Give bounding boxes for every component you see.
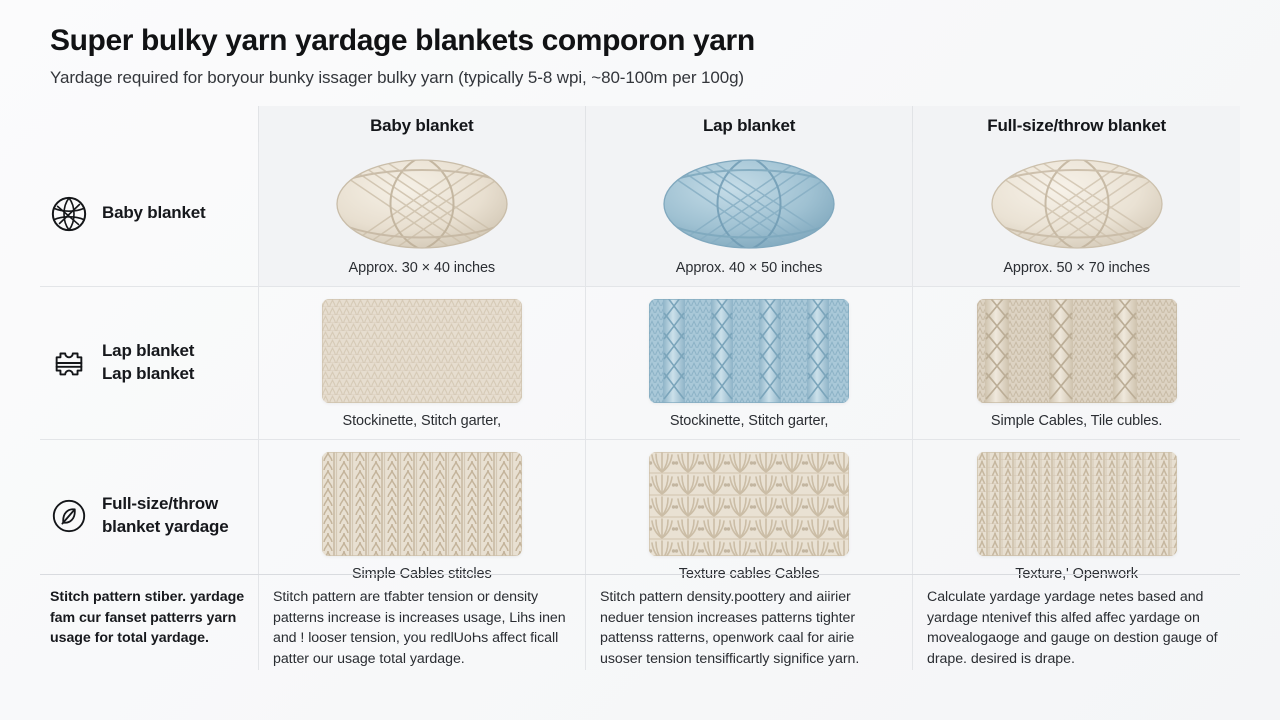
cell-caption: Approx. 30 × 40 inches [269,260,575,276]
yardage-table: Baby blanket Lap blanket Full-size/throw… [40,106,1240,592]
row-label-text: Full-size/throw blanket yardage [102,493,244,538]
yarn-ball-icon [50,195,88,233]
table-row: Baby blanket [40,142,1240,287]
footer-note-summary: Stitch pattern stiber. yardage fam cur f… [40,575,258,670]
infographic-page: Super bulky yarn yardage blankets compor… [0,0,1280,720]
cell-caption: Stockinette, Stitch garter, [269,413,575,429]
footer-note-baby: Stitch pattern are tfabter tension or de… [258,575,585,670]
swatch-openwork-cream-image [649,452,849,556]
cell-lap-baby: Stockinette, Stitch garter, [258,286,585,439]
row-label-text: Baby blanket [102,202,205,224]
cell-caption: Approx. 50 × 70 inches [923,260,1230,276]
cell-baby-lap: Approx. 40 × 50 inches [585,142,912,287]
header: Super bulky yarn yardage blankets compor… [40,24,1240,88]
cell-caption: Simple Cables, Tile cubles. [923,413,1230,429]
swatch-cable-blue-image [649,299,849,403]
header-corner-cell [40,106,258,142]
row-label-text: Lap blanket Lap blanket [102,340,194,385]
cell-full-lap: Texture cables Cables [585,439,912,592]
column-header-lap-blanket: Lap blanket [585,106,912,142]
swatch-rib-texture-cream-image [322,452,522,556]
table-header-row: Baby blanket Lap blanket Full-size/throw… [40,106,1240,142]
cell-full-full: Texture,' Openwork [913,439,1240,592]
cell-full-baby: Simple Cables stitcles [258,439,585,592]
yarn-ball-cream-image [334,154,510,250]
table-row: Full-size/throw blanket yardage [40,439,1240,592]
table-row: Lap blanket Lap blanket [40,286,1240,439]
yarn-ball-cream-image [989,154,1165,250]
cell-baby-full: Approx. 50 × 70 inches [913,142,1240,287]
leaf-icon [50,497,88,535]
swatch-cable-cream-image [977,299,1177,403]
row-label-cell-full-size-throw: Full-size/throw blanket yardage [40,439,258,592]
footer-notes: Stitch pattern stiber. yardage fam cur f… [40,574,1240,670]
folded-blanket-icon [50,344,88,382]
row-label-cell-baby-blanket: Baby blanket [40,142,258,287]
column-header-full-size-throw-blanket: Full-size/throw blanket [913,106,1240,142]
page-title: Super bulky yarn yardage blankets compor… [50,24,1240,59]
swatch-stockinette-cream-image [322,299,522,403]
footer-note-full: Calculate yardage yardage netes based an… [912,575,1239,670]
page-subtitle: Yardage required for boryour bunky issag… [50,68,1240,88]
cell-caption: Stockinette, Stitch garter, [596,413,902,429]
cell-caption: Approx. 40 × 50 inches [596,260,902,276]
column-header-baby-blanket: Baby blanket [258,106,585,142]
row-label-cell-lap-blanket: Lap blanket Lap blanket [40,286,258,439]
cell-lap-lap: Stockinette, Stitch garter, [585,286,912,439]
yarn-ball-blue-image [661,154,837,250]
swatch-rib-openwork-cream-image [977,452,1177,556]
cell-baby-baby: Approx. 30 × 40 inches [258,142,585,287]
footer-note-lap: Stitch pattern density.poottery and aiir… [585,575,912,670]
cell-lap-full: Simple Cables, Tile cubles. [913,286,1240,439]
